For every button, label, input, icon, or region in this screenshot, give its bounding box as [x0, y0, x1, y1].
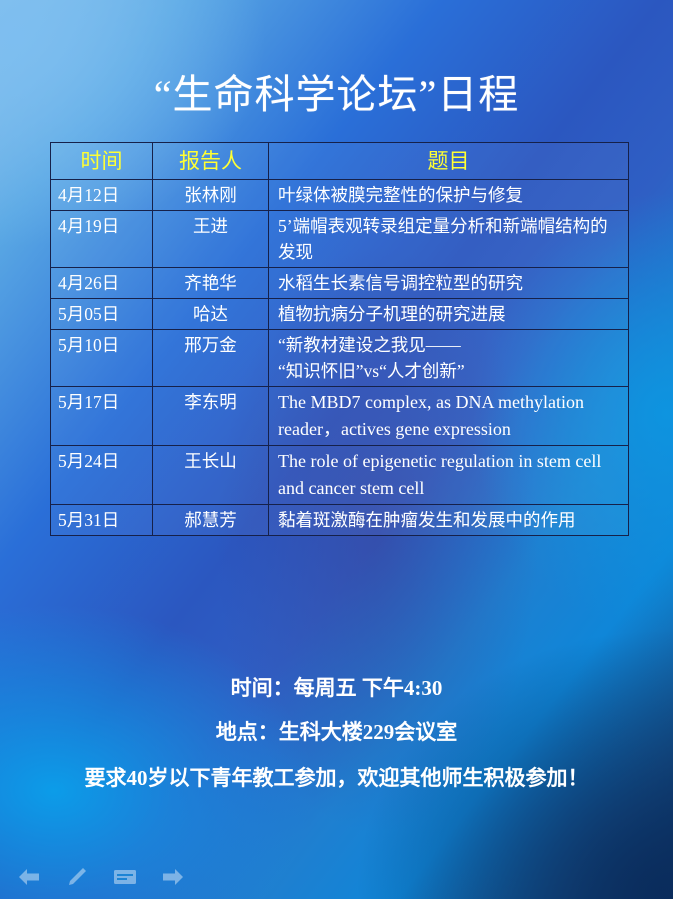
cell-speaker: 邢万金: [153, 330, 269, 387]
cell-topic: 水稻生长素信号调控粒型的研究: [269, 268, 629, 299]
cell-topic: 黏着斑激酶在肿瘤发生和发展中的作用: [269, 505, 629, 536]
table-row: 5月17日李东明The MBD7 complex, as DNA methyla…: [51, 387, 629, 446]
schedule-table: 时间 报告人 题目 4月12日张林刚叶绿体被膜完整性的保护与修复4月19日王进5…: [50, 142, 629, 536]
arrow-left-icon: [16, 867, 42, 887]
footer-time-line: 时间：每周五 下午4:30: [0, 672, 673, 702]
column-header-speaker: 报告人: [153, 143, 269, 180]
cell-speaker: 张林刚: [153, 180, 269, 211]
cell-topic: The MBD7 complex, as DNA methylation rea…: [269, 387, 629, 446]
cell-speaker: 王进: [153, 211, 269, 268]
cell-topic: 叶绿体被膜完整性的保护与修复: [269, 180, 629, 211]
slide-menu-button[interactable]: [110, 864, 140, 890]
cell-date: 4月19日: [51, 211, 153, 268]
cell-topic: The role of epigenetic regulation in ste…: [269, 446, 629, 505]
cell-date: 5月24日: [51, 446, 153, 505]
presentation-slide: “生命科学论坛”日程 时间 报告人 题目 4月12日张林刚叶绿体被膜完整性的保护…: [0, 0, 673, 899]
cell-date: 5月05日: [51, 299, 153, 330]
page-title: “生命科学论坛”日程: [0, 70, 673, 120]
pen-icon: [66, 866, 88, 888]
cell-topic: “新教材建设之我见—— “知识怀旧”vs“人才创新”: [269, 330, 629, 387]
table-row: 5月05日哈达植物抗病分子机理的研究进展: [51, 299, 629, 330]
next-slide-button[interactable]: [158, 864, 188, 890]
arrow-right-icon: [160, 867, 186, 887]
cell-speaker: 郝慧芳: [153, 505, 269, 536]
cell-topic: 植物抗病分子机理的研究进展: [269, 299, 629, 330]
table-row: 4月26日齐艳华水稻生长素信号调控粒型的研究: [51, 268, 629, 299]
table-row: 5月24日王长山The role of epigenetic regulatio…: [51, 446, 629, 505]
cell-speaker: 王长山: [153, 446, 269, 505]
previous-slide-button[interactable]: [14, 864, 44, 890]
pen-tool-button[interactable]: [62, 864, 92, 890]
cell-date: 4月26日: [51, 268, 153, 299]
table-header: 时间 报告人 题目: [51, 143, 629, 180]
footer-note-line: 要求40岁以下青年教工参加，欢迎其他师生积极参加！: [0, 762, 673, 792]
menu-icon: [113, 868, 137, 886]
table-header-row: 时间 报告人 题目: [51, 143, 629, 180]
cell-date: 5月31日: [51, 505, 153, 536]
cell-date: 5月17日: [51, 387, 153, 446]
cell-topic: 5’端帽表观转录组定量分析和新端帽结构的发现: [269, 211, 629, 268]
cell-date: 5月10日: [51, 330, 153, 387]
cell-speaker: 李东明: [153, 387, 269, 446]
table-row: 5月10日邢万金“新教材建设之我见—— “知识怀旧”vs“人才创新”: [51, 330, 629, 387]
column-header-time: 时间: [51, 143, 153, 180]
slideshow-toolbar: [0, 855, 673, 899]
cell-speaker: 哈达: [153, 299, 269, 330]
footer-place-line: 地点：生科大楼229会议室: [0, 716, 673, 746]
table-row: 4月12日张林刚叶绿体被膜完整性的保护与修复: [51, 180, 629, 211]
cell-speaker: 齐艳华: [153, 268, 269, 299]
table-row: 5月31日郝慧芳黏着斑激酶在肿瘤发生和发展中的作用: [51, 505, 629, 536]
column-header-topic: 题目: [269, 143, 629, 180]
table-body: 4月12日张林刚叶绿体被膜完整性的保护与修复4月19日王进5’端帽表观转录组定量…: [51, 180, 629, 536]
cell-date: 4月12日: [51, 180, 153, 211]
table-row: 4月19日王进5’端帽表观转录组定量分析和新端帽结构的发现: [51, 211, 629, 268]
